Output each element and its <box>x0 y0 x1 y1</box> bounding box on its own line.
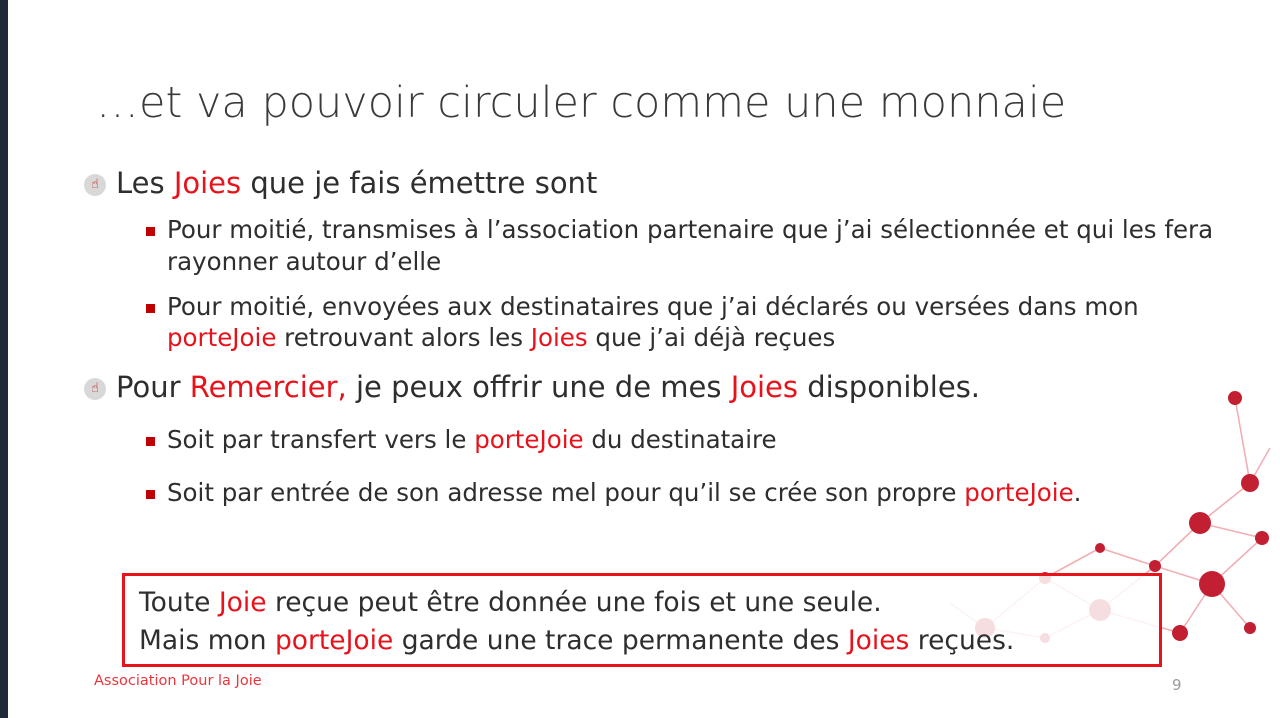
square-bullet-icon <box>146 490 155 499</box>
bullet-item-level1: ☝ Les Joies que je fais émettre sont <box>84 166 1234 200</box>
hand-pointer-icon: ☝ <box>84 378 106 400</box>
bullet-text: Pour moitié, envoyées aux destinataires … <box>167 291 1222 354</box>
left-accent-bar <box>0 0 8 718</box>
bullet-text: Soit par transfert vers le porteJoie du … <box>167 424 777 455</box>
text-segment: Pour moitié, envoyées aux destinataires … <box>167 292 1139 321</box>
bullet-item-level2: Soit par transfert vers le porteJoie du … <box>146 424 1234 455</box>
bullet-item-level1: ☝ Pour Remercier, je peux offrir une de … <box>84 370 1234 404</box>
square-bullet-icon <box>146 227 155 236</box>
text-segment: . <box>1074 478 1082 507</box>
bullet-item-level2: Pour moitié, envoyées aux destinataires … <box>146 291 1234 354</box>
square-bullet-icon <box>146 437 155 446</box>
slide-body: ☝ Les Joies que je fais émettre sont Pou… <box>84 160 1234 509</box>
text-segment: Soit par entrée de son adresse mel pour … <box>167 478 964 507</box>
text-segment-accent: porteJoie <box>964 478 1073 507</box>
text-segment: je peux offrir une de mes <box>347 370 731 404</box>
bullet-item-level2: Pour moitié, transmises à l’association … <box>146 214 1234 277</box>
bullet-text: Soit par entrée de son adresse mel pour … <box>167 477 1081 508</box>
page-number: 9 <box>1172 676 1182 694</box>
text-segment-accent: Joies <box>848 625 910 656</box>
text-segment: Pour <box>116 370 190 404</box>
text-segment-accent: Joies <box>174 166 241 200</box>
text-segment-accent: porteJoie <box>474 425 583 454</box>
text-segment: reçue peut être donnée une fois et une s… <box>267 587 882 618</box>
text-segment: que j’ai déjà reçues <box>588 323 836 352</box>
text-segment-accent: Joie <box>219 587 267 618</box>
bullet-text: Les Joies que je fais émettre sont <box>116 166 597 200</box>
hand-pointer-icon: ☝ <box>84 174 106 196</box>
text-segment-accent: porteJoie <box>275 625 393 656</box>
bullet-text: Pour moitié, transmises à l’association … <box>167 214 1222 277</box>
text-segment: Soit par transfert vers le <box>167 425 474 454</box>
text-segment-accent: Joies <box>731 370 798 404</box>
text-segment: que je fais émettre sont <box>241 166 597 200</box>
callout-line: Toute Joie reçue peut être donnée une fo… <box>139 584 1147 622</box>
bullet-text: Pour Remercier, je peux offrir une de me… <box>116 370 980 404</box>
slide: …et va pouvoir circuler comme une monnai… <box>0 0 1280 718</box>
footer-association-label: Association Pour la Joie <box>94 673 262 689</box>
text-segment: Mais mon <box>139 625 275 656</box>
callout-line: Mais mon porteJoie garde une trace perma… <box>139 622 1147 660</box>
text-segment-accent: porteJoie <box>167 323 276 352</box>
text-segment: garde une trace permanente des <box>393 625 848 656</box>
text-segment: reçues. <box>909 625 1014 656</box>
slide-title: …et va pouvoir circuler comme une monnai… <box>96 78 1196 128</box>
text-segment: Les <box>116 166 174 200</box>
text-segment: Pour moitié, transmises à l’association … <box>167 215 1213 275</box>
text-segment: Toute <box>139 587 219 618</box>
text-segment-accent: Joies <box>531 323 588 352</box>
text-segment: retrouvant alors les <box>276 323 530 352</box>
square-bullet-icon <box>146 304 155 313</box>
text-segment: du destinataire <box>584 425 777 454</box>
bullet-item-level2: Soit par entrée de son adresse mel pour … <box>146 477 1234 508</box>
text-segment: disponibles. <box>798 370 980 404</box>
text-segment-accent: Remercier, <box>190 370 347 404</box>
highlight-callout-box: Toute Joie reçue peut être donnée une fo… <box>122 573 1162 667</box>
